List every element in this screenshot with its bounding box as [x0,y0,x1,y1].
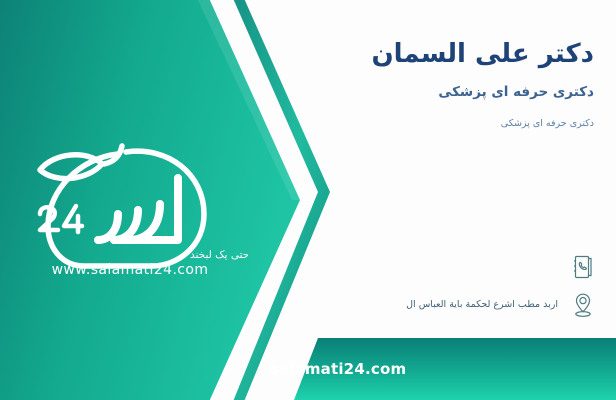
doctor-specialty: دکتری حرفه ای پزشکی [264,83,594,102]
contact-row-phone[interactable] [218,248,598,286]
phone-book-icon [568,250,598,284]
contact-list: اربد مطب اشرع لحكمة باية العباس ال [218,248,598,324]
footer-website[interactable]: salamati24.com [0,338,616,400]
doctor-profile-card: براحتی یک لبخند www.salamati24.com دکتر … [0,0,616,400]
doctor-specialty-secondary: دکتری حرفه ای پزشکی [264,117,594,130]
contact-address-text: اربد مطب اشرع لحكمة باية العباس ال [406,299,558,311]
doctor-info-block: دکتر علی السمان دکتری حرفه ای پزشکی دکتر… [264,38,594,131]
contact-row-address[interactable]: اربد مطب اشرع لحكمة باية العباس ال [218,286,598,324]
doctor-name: دکتر علی السمان [264,38,594,71]
location-pin-icon [568,288,598,322]
